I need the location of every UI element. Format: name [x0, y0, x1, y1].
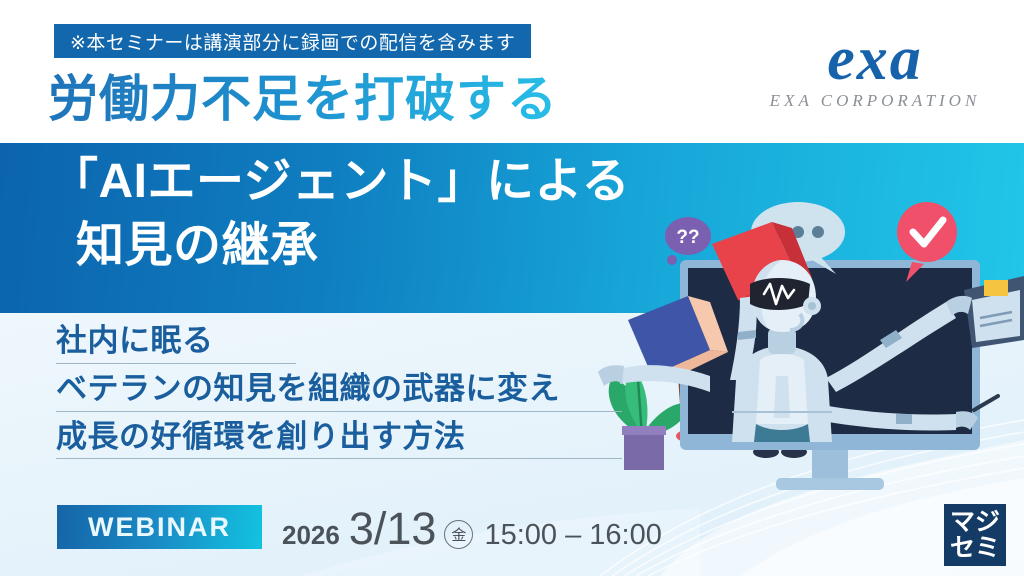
majisemi-logo: マジ セミ — [944, 504, 1006, 566]
exa-logo: exa EXA CORPORATION — [760, 30, 990, 111]
question-bubble: ?? — [665, 217, 711, 265]
exa-wordmark: exa — [760, 30, 990, 89]
webinar-banner: ※本セミナーは講演部分に録画での配信を含みます exa EXA CORPORAT… — [0, 0, 1024, 576]
subtitle-line-2: ベテランの知見を組織の武器に変え — [56, 370, 622, 412]
event-day-of-week: 金 — [444, 520, 473, 549]
exa-logo-subtitle: EXA CORPORATION — [760, 91, 990, 111]
illustration: ?? — [560, 180, 1024, 520]
event-year: 2026 — [282, 520, 340, 551]
subtitle-line-3: 成長の好循環を創り出す方法 — [56, 418, 622, 460]
majisemi-logo-line-2: セミ — [950, 535, 1000, 561]
event-month-day: 3/13 — [349, 503, 437, 555]
notice-badge: ※本セミナーは講演部分に録画での配信を含みます — [54, 24, 531, 58]
subtitle-line-1: 社内に眠る — [56, 322, 296, 364]
webinar-badge: WEBINAR — [57, 505, 262, 549]
date-time-row: 2026 3/13 金 15:00 – 16:00 — [282, 503, 662, 551]
subtitle-group: 社内に眠る ベテランの知見を組織の武器に変え 成長の好循環を創り出す方法 — [56, 322, 622, 465]
svg-text:??: ?? — [676, 227, 699, 248]
monitor — [680, 260, 980, 490]
headline: 労働力不足を打破する — [48, 72, 558, 127]
event-time-range: 15:00 – 16:00 — [484, 519, 661, 552]
majisemi-logo-line-1: マジ — [950, 509, 1000, 535]
